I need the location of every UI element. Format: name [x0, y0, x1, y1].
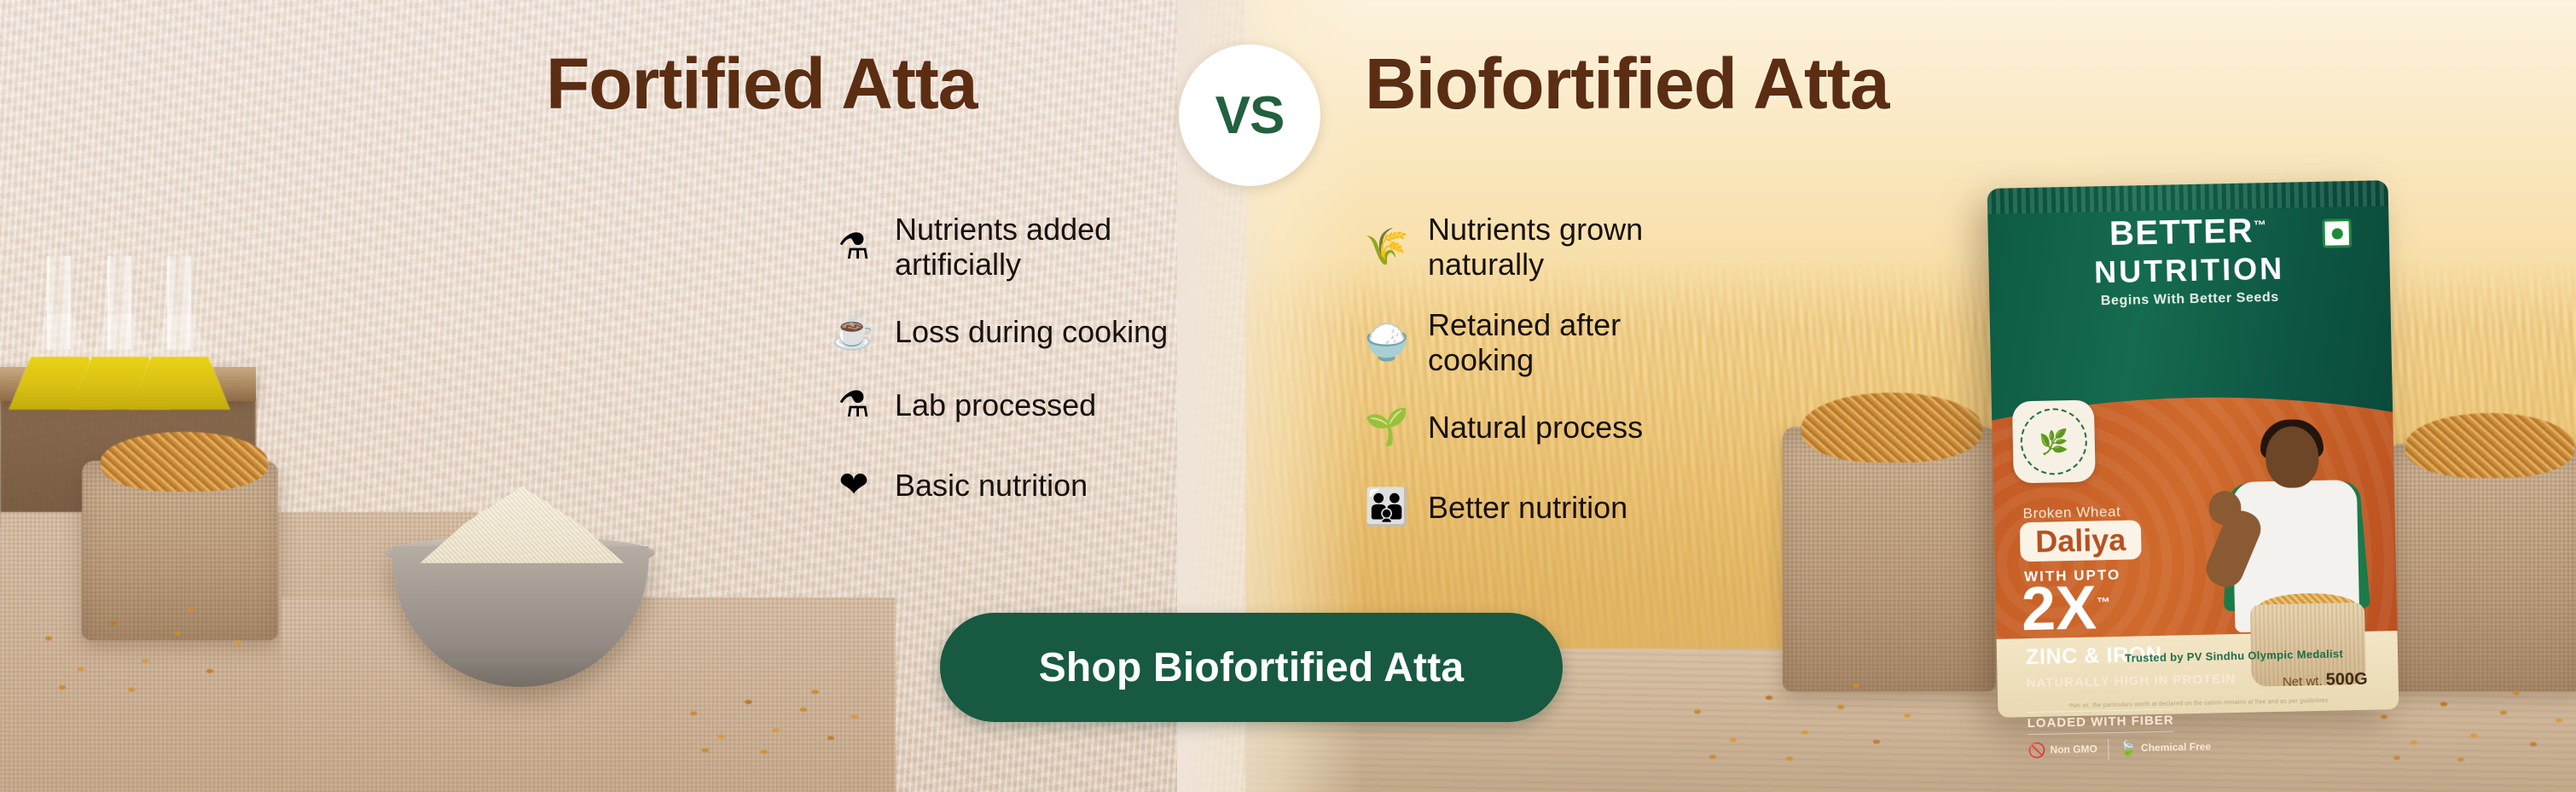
leaf-icon: 🍃 — [2119, 741, 2138, 758]
wheat-grain-pile — [2405, 413, 2574, 478]
badge-divider — [2108, 739, 2109, 760]
scattered-grains — [1672, 674, 1928, 768]
steaming-cup-down-arrow-icon: ☕ — [832, 307, 876, 355]
wheat-stalk-icon: 🌾 — [1365, 223, 1409, 271]
family-icon: 👪 — [1365, 483, 1409, 531]
list-item: 👪 Better nutrition — [1365, 483, 1732, 531]
chemical-free-badge: 🍃 Chemical Free — [2119, 739, 2212, 758]
packet-product-name: Daliya — [2020, 520, 2142, 562]
scattered-grains — [674, 683, 870, 760]
packet-net-weight: Net wt. 500G — [2283, 670, 2368, 691]
promo-banner: Fortified Atta VS Biofortified Atta ⚗ Nu… — [0, 0, 2576, 792]
packet-badges: 🚫 Non GMO 🍃 Chemical Free — [2028, 737, 2211, 761]
jute-sack — [1783, 427, 1996, 691]
packet-subtitle: Broken Wheat — [2022, 504, 2121, 522]
no-entry-icon: 🚫 — [2028, 742, 2046, 760]
wheat-grain-pile — [101, 432, 268, 492]
scattered-grains — [26, 597, 256, 700]
feature-label: Loss during cooking — [895, 314, 1168, 349]
feature-label: Natural process — [1428, 410, 1643, 445]
feature-label: Lab processed — [895, 387, 1096, 422]
feature-label: Nutrients grown naturally — [1428, 212, 1732, 282]
page-title-right: Biofortified Atta — [1365, 43, 1888, 125]
non-gmo-badge: 🚫 Non GMO — [2028, 742, 2097, 760]
feature-label: Nutrients added artificially — [895, 212, 1190, 282]
packet-fiber-claim: LOADED WITH FIBER — [2027, 709, 2174, 736]
list-item: ⚗ Nutrients added artificially — [832, 212, 1190, 282]
shop-biofortified-atta-button[interactable]: Shop Biofortified Atta — [940, 613, 1563, 722]
list-item: 🍚 Retained after cooking — [1365, 307, 1732, 377]
list-item: ❤ Basic nutrition — [832, 461, 1190, 509]
lab-flasks-icon: ⚗ — [832, 381, 876, 428]
jute-sack — [2388, 444, 2576, 691]
page-title-left: Fortified Atta — [546, 43, 978, 125]
list-item: 🌾 Nutrients grown naturally — [1365, 212, 1732, 282]
athlete-photo — [2208, 424, 2384, 684]
bio-fortified-seal: 🌿 — [2012, 399, 2096, 483]
list-item: 🌱 Natural process — [1365, 403, 1732, 451]
list-item: ☕ Loss during cooking — [832, 307, 1190, 355]
flask-icon: ⚗ — [832, 223, 876, 271]
feature-list-fortified: ⚗ Nutrients added artificially ☕ Loss du… — [832, 212, 1190, 524]
vs-label: VS — [1215, 85, 1285, 146]
seedling-icon: 🌱 — [1365, 403, 1409, 451]
feature-list-biofortified: 🌾 Nutrients grown naturally 🍚 Retained a… — [1365, 212, 1732, 546]
packet-multiplier: 2X™ — [2021, 577, 2111, 640]
feature-label: Basic nutrition — [895, 468, 1088, 503]
feature-label: Retained after cooking — [1428, 307, 1732, 377]
lab-flask-icon — [130, 256, 230, 410]
list-item: ⚗ Lab processed — [832, 381, 1190, 428]
wheat-grain-pile — [1801, 393, 1982, 463]
heart-pulse-leaf-icon: ❤ — [832, 461, 876, 509]
feature-label: Better nutrition — [1428, 490, 1627, 525]
steaming-bowl-icon: 🍚 — [1365, 318, 1409, 366]
vegetarian-mark-icon — [2322, 218, 2352, 248]
product-packet-daliya[interactable]: BETTER™ NUTRITION Begins With Better See… — [1987, 180, 2399, 718]
vs-badge: VS — [1179, 44, 1320, 186]
leaf-icon: 🌿 — [2020, 408, 2088, 476]
